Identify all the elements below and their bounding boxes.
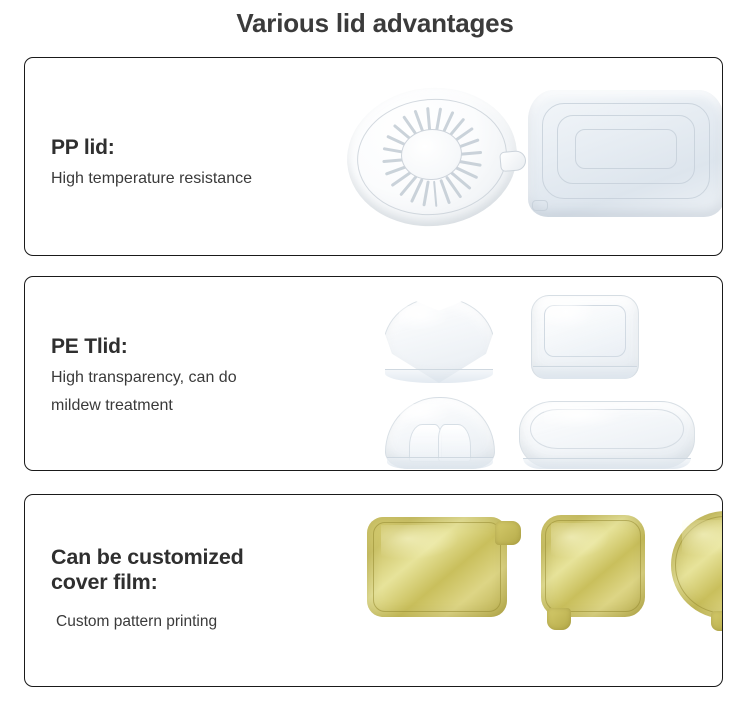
pe-round-dome-lid-image <box>385 397 495 469</box>
advantage-card-cover-film: Can be customized cover film: Custom pat… <box>24 494 723 687</box>
gold-rectangular-film-image <box>367 517 507 617</box>
lid-ridge-inner <box>575 129 677 168</box>
advantage-card-pe-lid: PE Tlid: High transparency, can do milde… <box>24 276 723 471</box>
card-heading: Can be customized cover film: <box>51 545 351 595</box>
pe-oval-lid-image <box>519 401 695 469</box>
lid-lobe-right <box>438 424 471 461</box>
gold-square-film-image <box>541 515 645 617</box>
lid-highlight <box>546 303 596 328</box>
card-figures <box>345 495 722 686</box>
lid-highlight <box>400 404 451 426</box>
card-figures <box>345 58 722 255</box>
lid-base-rim <box>523 458 692 469</box>
lid-base-rim <box>387 457 493 469</box>
gold-round-film-image <box>671 511 723 619</box>
pp-rectangular-lid-image <box>528 90 723 217</box>
card-text-block: PP lid: High temperature resistance <box>51 136 351 193</box>
foil-pull-tab <box>495 521 521 545</box>
card-figures <box>345 277 722 470</box>
advantage-card-pp-lid: PP lid: High temperature resistance <box>24 57 723 256</box>
page-title: Various lid advantages <box>0 8 750 39</box>
foil-highlight <box>551 523 608 558</box>
lid-base-rim <box>533 366 637 379</box>
card-text-block: Can be customized cover film: Custom pat… <box>51 545 351 636</box>
card-description: Custom pattern printing <box>51 609 351 636</box>
pe-heart-lid-image <box>383 297 495 383</box>
card-heading: PP lid: <box>51 136 351 160</box>
lid-pull-tab <box>499 150 527 172</box>
foil-highlight <box>682 520 723 557</box>
foil-pull-tab <box>547 608 571 630</box>
foil-pull-tab <box>711 611 723 631</box>
infographic-page: Various lid advantages PP lid: High temp… <box>0 0 750 713</box>
foil-highlight <box>381 525 458 559</box>
card-description: High transparency, can do mildew treatme… <box>51 364 351 419</box>
pe-square-lid-image <box>531 295 639 379</box>
card-description: High temperature resistance <box>51 165 351 193</box>
lid-highlight <box>544 408 625 428</box>
lid-corner-notch <box>532 200 548 211</box>
lid-base-rim <box>385 369 493 383</box>
lid-highlight <box>399 306 451 332</box>
card-text-block: PE Tlid: High transparency, can do milde… <box>51 335 351 419</box>
pp-round-lid-image <box>347 88 517 226</box>
card-heading: PE Tlid: <box>51 335 351 359</box>
